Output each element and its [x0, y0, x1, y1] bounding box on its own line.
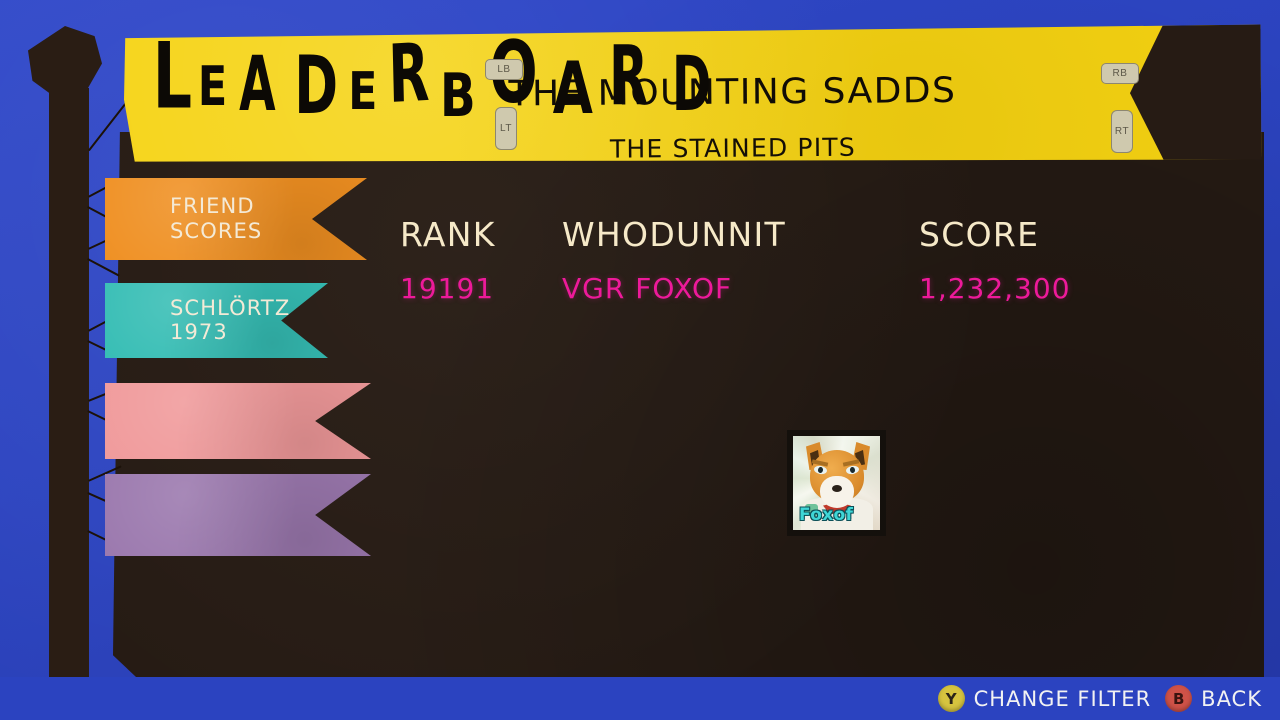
wordmark-letter: D: [672, 46, 711, 122]
leaderboard-screen: THE MOUNTING SADDS THE STAINED PITS LEAD…: [0, 0, 1280, 720]
sidebar-item-label: FRIEND SCORES: [170, 194, 262, 244]
cell-score: 1,232,300: [919, 272, 1071, 305]
rt-button-icon[interactable]: RT: [1111, 110, 1133, 153]
sidebar-item-label: SCHLÖRTZ 1973: [170, 296, 290, 346]
sidebar-item-3[interactable]: [105, 383, 371, 459]
avatar-gamertag: Foxof: [799, 505, 869, 525]
banner-pole: [49, 88, 89, 720]
fox-nose-icon: [832, 485, 842, 492]
wordmark-letter: E: [348, 66, 377, 118]
lt-button-icon[interactable]: LT: [495, 107, 517, 150]
wordmark-letter: D: [294, 46, 338, 126]
tab-shape: [105, 383, 371, 459]
column-header-whodunnit: WHODUNNIT: [562, 215, 786, 254]
hint-back[interactable]: B BACK: [1165, 685, 1262, 712]
hint-change-filter[interactable]: Y CHANGE FILTER: [938, 685, 1152, 712]
avatar[interactable]: Foxof: [787, 430, 886, 536]
wordmark-letter: B: [440, 66, 476, 126]
column-header-score: SCORE: [919, 215, 1039, 254]
wordmark-letter: R: [609, 36, 648, 118]
hint-label-back: BACK: [1201, 687, 1262, 711]
wordmark-letter: A: [239, 46, 275, 122]
sidebar-item-friend-scores[interactable]: FRIEND SCORES: [105, 178, 367, 260]
column-header-rank: RANK: [400, 215, 496, 254]
wordmark-letter: R: [388, 33, 430, 115]
tab-texture: [105, 474, 371, 556]
rb-button-icon[interactable]: RB: [1101, 63, 1139, 84]
leaderboard-wordmark: LEADERBOARD: [145, 34, 475, 138]
tab-texture: [105, 383, 371, 459]
wordmark-letter: A: [553, 52, 593, 124]
wordmark-letter: L: [153, 31, 192, 122]
footer-hint-bar: Y CHANGE FILTER B BACK: [0, 677, 1280, 720]
wordmark-letter: E: [198, 60, 228, 114]
cell-whodunnit: VGR FOXOF: [562, 272, 732, 305]
b-button-icon[interactable]: B: [1165, 685, 1192, 712]
lb-button-icon[interactable]: LB: [485, 59, 523, 80]
hint-label-change-filter: CHANGE FILTER: [974, 687, 1152, 711]
fox-muzzle-icon: [820, 476, 854, 508]
tab-shape: [105, 474, 371, 556]
cell-rank: 19191: [400, 272, 494, 305]
avatar-image: Foxof: [793, 436, 880, 530]
y-button-icon[interactable]: Y: [938, 685, 965, 712]
sidebar-item-schlortz-1973[interactable]: SCHLÖRTZ 1973: [105, 283, 328, 358]
sidebar-item-4[interactable]: [105, 474, 371, 556]
